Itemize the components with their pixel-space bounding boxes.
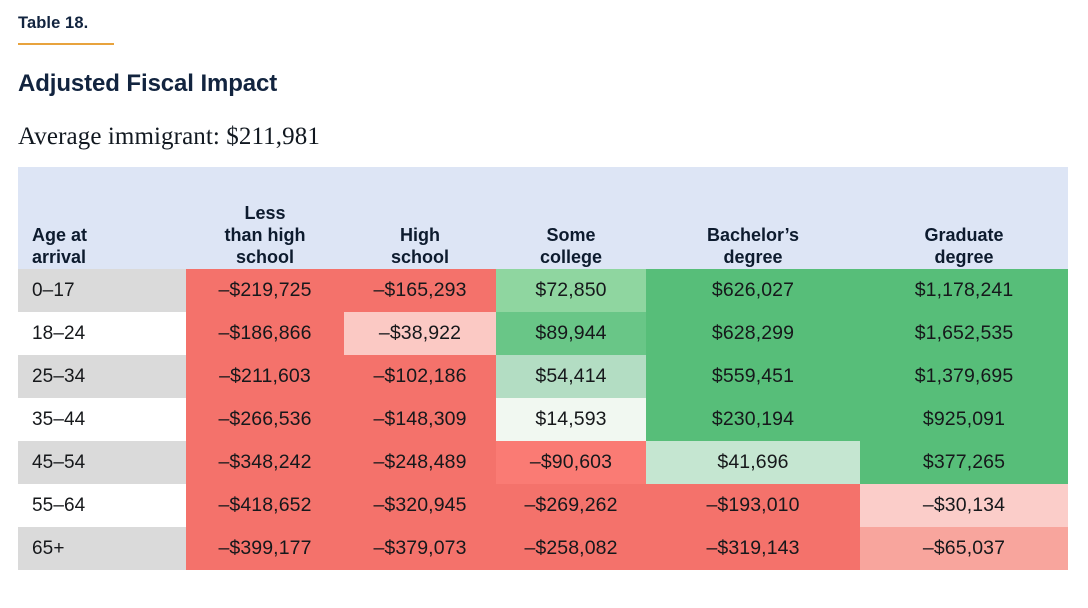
table-subtitle: Average immigrant: $211,981	[18, 123, 1088, 151]
table-header: Age at arrival Less than high school Hig…	[18, 167, 1068, 269]
fiscal-impact-table: Age at arrival Less than high school Hig…	[18, 167, 1068, 570]
heatmap-cell: –$266,536	[186, 398, 344, 441]
table-row: 0–17–$219,725–$165,293$72,850$626,027$1,…	[18, 269, 1068, 312]
header-line: High	[344, 225, 496, 247]
header-line: Graduate	[860, 225, 1068, 247]
heatmap-cell: –$211,603	[186, 355, 344, 398]
heatmap-cell: –$418,652	[186, 484, 344, 527]
header-line: Bachelor’s	[646, 225, 860, 247]
heatmap-cell: –$148,309	[344, 398, 496, 441]
table-body: 0–17–$219,725–$165,293$72,850$626,027$1,…	[18, 269, 1068, 570]
heatmap-cell: $89,944	[496, 312, 646, 355]
column-header-high-school: High school	[344, 167, 496, 269]
header-line: school	[186, 247, 344, 269]
header-line: Some	[496, 225, 646, 247]
column-header-age: Age at arrival	[18, 167, 186, 269]
row-label-age: 55–64	[18, 484, 186, 527]
table-row: 35–44–$266,536–$148,309$14,593$230,194$9…	[18, 398, 1068, 441]
table-number: Table 18.	[18, 0, 1088, 33]
heatmap-cell: $1,652,535	[860, 312, 1068, 355]
heatmap-cell: $377,265	[860, 441, 1068, 484]
column-header-graduate-degree: Graduate degree	[860, 167, 1068, 269]
heatmap-cell: $925,091	[860, 398, 1068, 441]
header-row: Age at arrival Less than high school Hig…	[18, 167, 1068, 269]
heatmap-cell: –$38,922	[344, 312, 496, 355]
heatmap-cell: –$379,073	[344, 527, 496, 570]
heatmap-cell: $1,379,695	[860, 355, 1068, 398]
table-row: 65+–$399,177–$379,073–$258,082–$319,143–…	[18, 527, 1068, 570]
header-line: college	[496, 247, 646, 269]
heatmap-cell: $626,027	[646, 269, 860, 312]
heatmap-cell: –$399,177	[186, 527, 344, 570]
header-line: Age at	[32, 225, 186, 247]
heatmap-cell: $41,696	[646, 441, 860, 484]
header-line: Less	[186, 203, 344, 225]
heatmap-cell: –$65,037	[860, 527, 1068, 570]
heatmap-cell: –$90,603	[496, 441, 646, 484]
row-label-age: 35–44	[18, 398, 186, 441]
heatmap-cell: $628,299	[646, 312, 860, 355]
title-rule	[18, 43, 114, 45]
heatmap-cell: $72,850	[496, 269, 646, 312]
page-title: Adjusted Fiscal Impact	[18, 70, 1088, 98]
table-row: 45–54–$348,242–$248,489–$90,603$41,696$3…	[18, 441, 1068, 484]
heatmap-cell: –$258,082	[496, 527, 646, 570]
row-label-age: 65+	[18, 527, 186, 570]
heatmap-cell: $230,194	[646, 398, 860, 441]
heatmap-cell: –$320,945	[344, 484, 496, 527]
header-line: arrival	[32, 247, 186, 269]
header-line: than high	[186, 225, 344, 247]
row-label-age: 18–24	[18, 312, 186, 355]
heatmap-cell: $14,593	[496, 398, 646, 441]
heatmap-cell: –$269,262	[496, 484, 646, 527]
heatmap-cell: –$219,725	[186, 269, 344, 312]
header-line: degree	[646, 247, 860, 269]
heatmap-cell: –$319,143	[646, 527, 860, 570]
heatmap-cell: –$186,866	[186, 312, 344, 355]
row-label-age: 45–54	[18, 441, 186, 484]
heatmap-cell: –$165,293	[344, 269, 496, 312]
table-row: 25–34–$211,603–$102,186$54,414$559,451$1…	[18, 355, 1068, 398]
heatmap-cell: $559,451	[646, 355, 860, 398]
heatmap-cell: –$30,134	[860, 484, 1068, 527]
heatmap-cell: –$102,186	[344, 355, 496, 398]
heatmap-cell: –$348,242	[186, 441, 344, 484]
table-page: Table 18. Adjusted Fiscal Impact Average…	[0, 0, 1088, 608]
column-header-bachelors-degree: Bachelor’s degree	[646, 167, 860, 269]
header-line: degree	[860, 247, 1068, 269]
heatmap-cell: $1,178,241	[860, 269, 1068, 312]
column-header-some-college: Some college	[496, 167, 646, 269]
header-line: school	[344, 247, 496, 269]
heatmap-cell: –$193,010	[646, 484, 860, 527]
heatmap-cell: $54,414	[496, 355, 646, 398]
row-label-age: 0–17	[18, 269, 186, 312]
table-row: 18–24–$186,866–$38,922$89,944$628,299$1,…	[18, 312, 1068, 355]
table-row: 55–64–$418,652–$320,945–$269,262–$193,01…	[18, 484, 1068, 527]
column-header-less-than-high-school: Less than high school	[186, 167, 344, 269]
row-label-age: 25–34	[18, 355, 186, 398]
heatmap-cell: –$248,489	[344, 441, 496, 484]
